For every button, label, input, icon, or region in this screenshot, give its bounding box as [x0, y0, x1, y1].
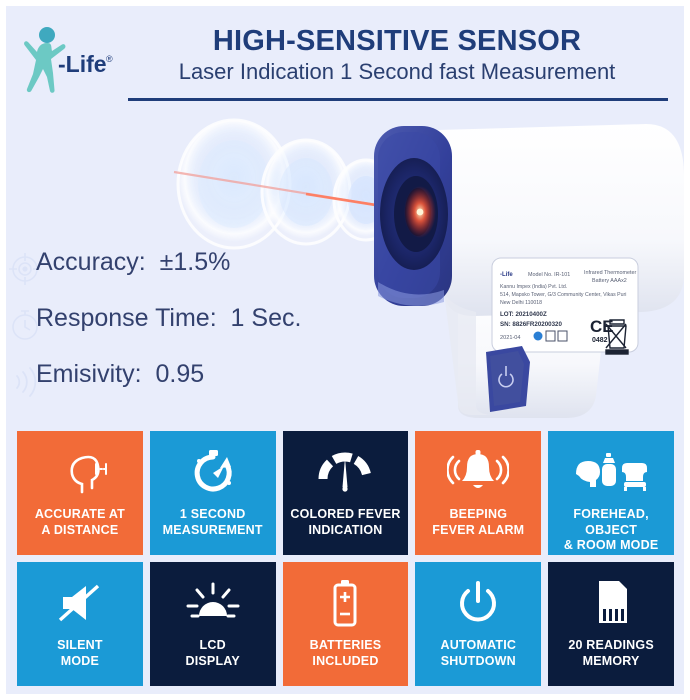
laser-beam-rings: [178, 120, 398, 248]
label-date: 2021-04: [500, 335, 521, 341]
title-block: HIGH-SENSITIVE SENSOR Laser Indication 1…: [114, 26, 680, 86]
page-title: HIGH-SENSITIVE SENSOR: [114, 26, 680, 56]
product-infographic: -Life ® HIGH-SENSITIVE SENSOR Laser Indi…: [0, 0, 690, 700]
spec-accuracy: Accuracy: ±1.5%: [6, 244, 366, 300]
power-icon: [454, 576, 502, 630]
brightness-icon: [184, 576, 242, 630]
spec-response-label: Response Time:: [36, 304, 217, 332]
label-model: Model No. IR-101: [528, 272, 570, 278]
spec-accuracy-value: ±1.5%: [160, 248, 231, 276]
page-subtitle: Laser Indication 1 Second fast Measureme…: [114, 58, 680, 86]
stopwatch-arrow-icon: [187, 445, 239, 499]
memory-card-icon: [591, 576, 631, 630]
feature-tile-colored-fever-indication[interactable]: COLORED FEVERINDICATION: [283, 431, 409, 555]
mute-icon: [53, 576, 107, 630]
head-distance-icon: [52, 445, 108, 499]
spec-response-value: 1 Sec.: [231, 304, 302, 332]
feature-tile-accurate-at-a-distance[interactable]: ACCURATE ATA DISTANCE: [17, 431, 143, 555]
feature-label: 1 SECONDMEASUREMENT: [159, 507, 267, 538]
bell-alarm-icon: [447, 445, 509, 499]
product-label: -Life Model No. IR-101 Infrared Thermome…: [492, 258, 638, 354]
label-lot: LOT: 20210400Z: [500, 311, 547, 318]
feature-label: 20 READINGSMEMORY: [564, 638, 658, 669]
feature-label: BATTERIESINCLUDED: [306, 638, 386, 669]
feature-label: BEEPINGFEVER ALARM: [428, 507, 528, 538]
features-grid: ACCURATE ATA DISTANCE 1 SECONDMEASUREMEN…: [17, 431, 674, 686]
specs-list: Accuracy: ±1.5% Response Time: 1 Sec.: [6, 244, 366, 412]
ce-number: 0482: [592, 337, 608, 344]
header-divider: [128, 98, 668, 101]
spec-accuracy-text: Accuracy: ±1.5%: [36, 248, 230, 277]
gauge-icon: [316, 445, 374, 499]
label-type: Infrared Thermometer: [584, 270, 637, 276]
label-brand: -Life: [500, 272, 513, 278]
feature-label: AUTOMATICSHUTDOWN: [436, 638, 520, 669]
trademark-symbol: ®: [106, 54, 113, 64]
k-life-logo: -Life ®: [14, 22, 114, 96]
label-address-1: 514, Mapsko Tower, G/3 Community Center,…: [500, 292, 626, 298]
spec-accuracy-label: Accuracy:: [36, 248, 146, 276]
spec-response-time: Response Time: 1 Sec.: [6, 300, 366, 356]
spec-emissivity-value: 0.95: [155, 360, 204, 388]
spec-emissivity-label: Emisivity:: [36, 360, 142, 388]
feature-tile-automatic-shutdown[interactable]: AUTOMATICSHUTDOWN: [415, 562, 541, 686]
label-company: Kannu Impex (India) Pvt. Ltd.: [500, 284, 567, 290]
spec-emissivity-text: Emisivity: 0.95: [36, 360, 204, 389]
logo-wordmark: -Life: [58, 51, 107, 77]
feature-label: COLORED FEVERINDICATION: [286, 507, 404, 538]
label-battery: Battery AAAx2: [592, 278, 627, 284]
label-sn: SN: 8826FR20200320: [500, 321, 562, 328]
feature-tile-20-readings-memory[interactable]: 20 READINGSMEMORY: [548, 562, 674, 686]
spec-emissivity: Emisivity: 0.95: [6, 356, 366, 412]
feature-label: SILENTMODE: [53, 638, 107, 669]
feature-tile-forehead-object-room-mode[interactable]: FOREHEAD, OBJECT& ROOM MODE: [548, 431, 674, 555]
spec-response-text: Response Time: 1 Sec.: [36, 304, 301, 333]
head-bottle-sofa-icon: [572, 445, 650, 499]
feature-label: FOREHEAD, OBJECT& ROOM MODE: [548, 507, 674, 554]
label-address-2: New Delhi 110018: [500, 300, 542, 306]
feature-tile-beeping-fever-alarm[interactable]: BEEPINGFEVER ALARM: [415, 431, 541, 555]
feature-tile-lcd-display[interactable]: LCDDISPLAY: [150, 562, 276, 686]
battery-icon: [328, 576, 362, 630]
feature-tile-batteries-included[interactable]: BATTERIESINCLUDED: [283, 562, 409, 686]
feature-tile-silent-mode[interactable]: SILENTMODE: [17, 562, 143, 686]
feature-label: LCDDISPLAY: [181, 638, 243, 669]
header: -Life ® HIGH-SENSITIVE SENSOR Laser Indi…: [6, 6, 684, 106]
feature-label: ACCURATE ATA DISTANCE: [31, 507, 129, 538]
feature-tile-1-second-measurement[interactable]: 1 SECONDMEASUREMENT: [150, 431, 276, 555]
